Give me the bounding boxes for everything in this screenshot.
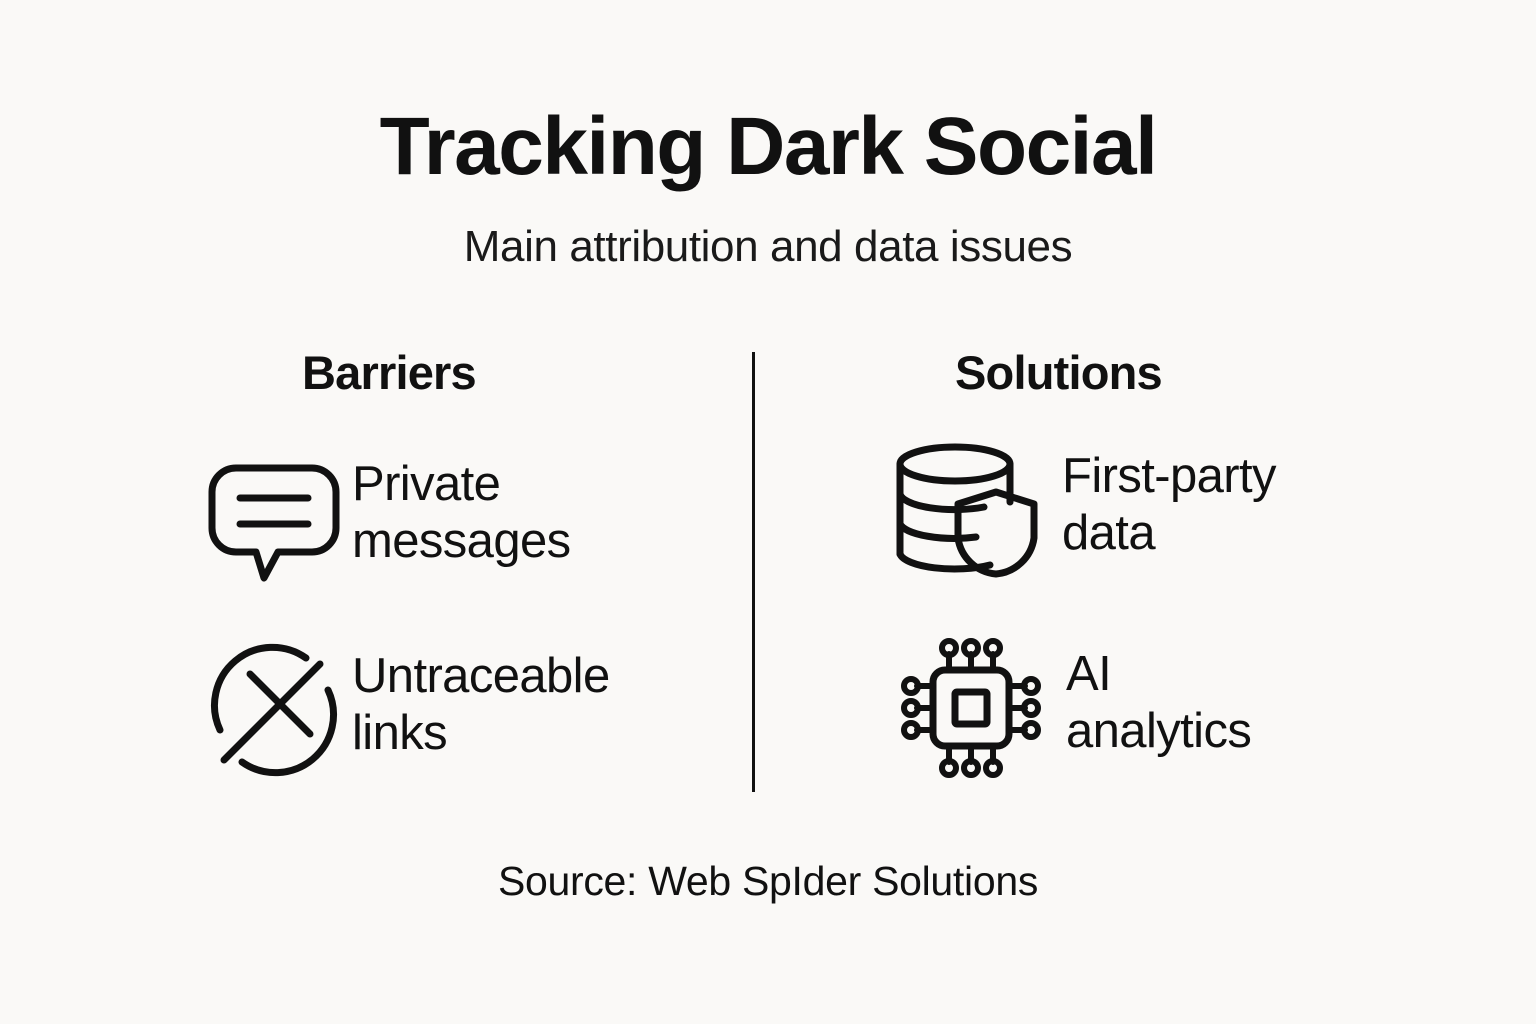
infographic-canvas: Tracking Dark Social Main attribution an… <box>0 0 1536 1024</box>
list-item: Untraceable links <box>196 640 610 780</box>
list-item-label: Untraceable links <box>352 640 610 762</box>
circle-x-icon <box>196 640 352 780</box>
speech-bubble-icon <box>196 448 352 588</box>
column-heading-solutions: Solutions <box>955 345 1162 400</box>
source-caption: Source: Web SpIder Solutions <box>0 858 1536 905</box>
page-subtitle: Main attribution and data issues <box>0 222 1536 273</box>
column-divider <box>752 352 755 792</box>
list-item-label: Private messages <box>352 448 571 570</box>
list-item: Private messages <box>196 448 571 588</box>
column-heading-barriers: Barriers <box>302 345 476 400</box>
list-item: First-party data <box>872 440 1276 580</box>
list-item: AI analytics <box>876 638 1251 778</box>
list-item-label: First-party data <box>1062 440 1276 562</box>
page-title: Tracking Dark Social <box>0 104 1536 190</box>
cpu-chip-icon <box>876 638 1066 778</box>
list-item-label: AI analytics <box>1066 638 1251 760</box>
database-shield-icon <box>872 440 1062 580</box>
